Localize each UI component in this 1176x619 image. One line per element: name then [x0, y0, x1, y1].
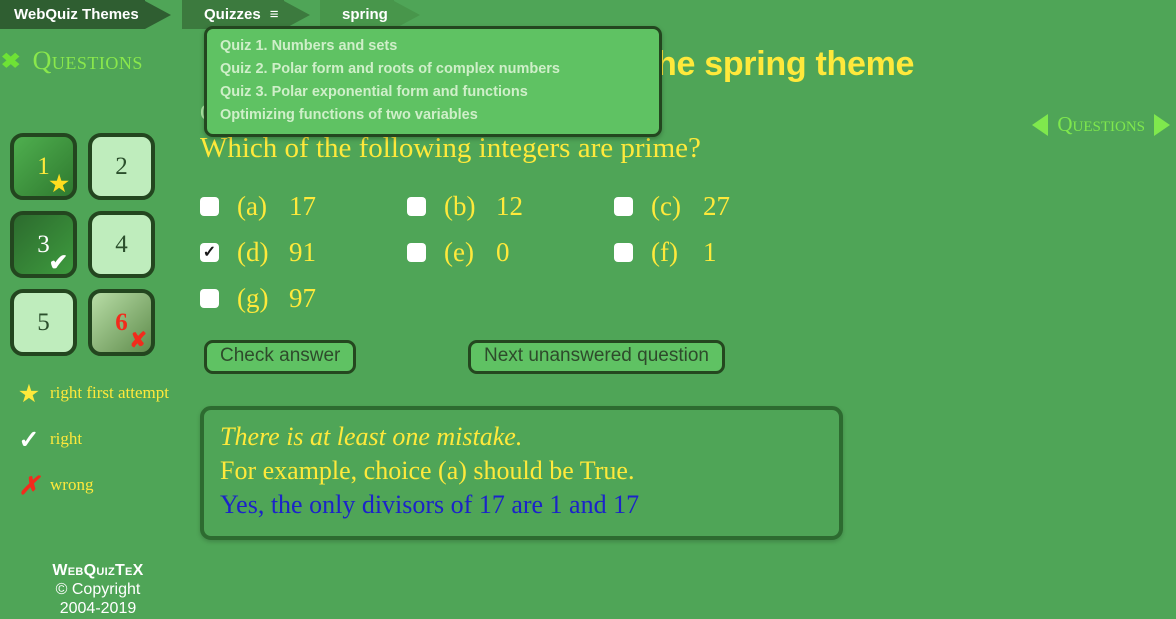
question-button-grid: 1 ★ 2 3 ✔ 4 5 6 ✘ [10, 133, 170, 356]
close-x-icon[interactable]: ✖ [1, 51, 21, 72]
question-button-2[interactable]: 2 [88, 133, 155, 200]
feedback-example: For example, choice (a) should be True. [220, 454, 823, 488]
page-title: he spring theme [656, 45, 914, 84]
checkbox-c[interactable] [614, 197, 633, 216]
menu-item-quiz-2[interactable]: Quiz 2. Polar form and roots of complex … [207, 58, 659, 81]
breadcrumb-arrow [394, 1, 420, 29]
checkbox-f[interactable] [614, 243, 633, 262]
choice-c[interactable]: (c) 27 [614, 191, 821, 222]
menu-item-quiz-3[interactable]: Quiz 3. Polar exponential form and funct… [207, 81, 659, 104]
choice-value: 27 [703, 191, 730, 222]
choice-d[interactable]: ✓ (d) 91 [200, 237, 407, 268]
question-number: 6 [115, 310, 128, 335]
question-number: 4 [115, 232, 128, 257]
questions-nav-label[interactable]: Questions [1057, 112, 1145, 137]
checkbox-a[interactable] [200, 197, 219, 216]
breadcrumb-label: spring [342, 6, 388, 23]
choice-a[interactable]: (a) 17 [200, 191, 407, 222]
choice-letter: (b) [444, 191, 496, 222]
choice-value: 12 [496, 191, 523, 222]
menu-item-quiz-1[interactable]: Quiz 1. Numbers and sets [207, 35, 659, 58]
choice-value: 0 [496, 237, 510, 268]
choice-letter: (c) [651, 191, 703, 222]
sidebar-heading: Questions [33, 46, 143, 76]
copyright-years: 2004-2019 [0, 599, 196, 618]
breadcrumb-arrow [284, 1, 310, 29]
question-number: 2 [115, 154, 128, 179]
legend-row: ✗ wrong [8, 472, 188, 500]
copyright-block: WebQuizTeX © Copyright 2004-2019 [0, 561, 196, 618]
breadcrumb-label: WebQuiz Themes [14, 6, 139, 23]
checkbox-g[interactable] [200, 289, 219, 308]
choice-letter: (d) [237, 237, 289, 268]
triangle-right-icon[interactable] [1154, 114, 1170, 136]
feedback-box: There is at least one mistake. For examp… [200, 406, 843, 540]
choice-row: (g) 97 [200, 283, 840, 314]
choice-row: ✓ (d) 91 (e) 0 (f) 1 [200, 237, 840, 268]
choice-letter: (a) [237, 191, 289, 222]
choice-letter: (g) [237, 283, 289, 314]
choice-b[interactable]: (b) 12 [407, 191, 614, 222]
checkbox-e[interactable] [407, 243, 426, 262]
breadcrumb-label: Quizzes [204, 6, 261, 23]
question-button-6[interactable]: 6 ✘ [88, 289, 155, 356]
legend-row: ★ right first attempt [8, 380, 188, 408]
quizzes-dropdown-menu[interactable]: Quiz 1. Numbers and sets Quiz 2. Polar f… [204, 26, 662, 137]
hamburger-menu-icon[interactable]: ≡ [270, 7, 279, 22]
feedback-explanation: Yes, the only divisors of 17 are 1 and 1… [220, 488, 823, 522]
choice-e[interactable]: (e) 0 [407, 237, 614, 268]
question-number: 5 [37, 310, 50, 335]
brand-name: WebQuizTeX [0, 561, 196, 580]
checkbox-b[interactable] [407, 197, 426, 216]
check-icon: ✓ [8, 426, 50, 454]
choice-g[interactable]: (g) 97 [200, 283, 407, 314]
choice-letter: (e) [444, 237, 496, 268]
legend-label: right [50, 426, 82, 450]
triangle-left-icon[interactable] [1032, 114, 1048, 136]
sidebar-header: ✖ Questions [2, 46, 143, 76]
breadcrumb-item-spring[interactable]: spring [320, 0, 420, 29]
choice-list: (a) 17 (b) 12 (c) 27 ✓ (d) 91 (e) [200, 191, 840, 314]
star-icon: ★ [8, 380, 50, 408]
question-number: 1 [37, 154, 50, 179]
question-button-5[interactable]: 5 [10, 289, 77, 356]
cross-icon: ✗ [8, 472, 50, 500]
breadcrumb-item-quizzes[interactable]: Quizzes ≡ [182, 0, 310, 29]
choice-f[interactable]: (f) 1 [614, 237, 821, 268]
check-answer-button[interactable]: Check answer [204, 340, 356, 374]
choice-row: (a) 17 (b) 12 (c) 27 [200, 191, 840, 222]
menu-item-optimizing[interactable]: Optimizing functions of two variables [207, 104, 659, 127]
main-panel: Question 6 Which of the following intege… [200, 100, 1176, 540]
question-button-1[interactable]: 1 ★ [10, 133, 77, 200]
checkbox-d[interactable]: ✓ [200, 243, 219, 262]
action-buttons: Check answer Next unanswered question [200, 340, 1176, 372]
choice-value: 91 [289, 237, 316, 268]
next-unanswered-question-button[interactable]: Next unanswered question [468, 340, 725, 374]
star-icon: ★ [49, 173, 69, 195]
breadcrumb-arrow [145, 1, 171, 29]
choice-value: 97 [289, 283, 316, 314]
feedback-summary: There is at least one mistake. [220, 420, 823, 454]
choice-value: 1 [703, 237, 717, 268]
legend: ★ right first attempt ✓ right ✗ wrong [8, 380, 188, 518]
legend-label: wrong [50, 472, 93, 496]
question-navigation: Questions [1032, 112, 1170, 137]
breadcrumb: WebQuiz Themes Quizzes ≡ spring [0, 0, 1176, 29]
question-button-4[interactable]: 4 [88, 211, 155, 278]
question-button-3[interactable]: 3 ✔ [10, 211, 77, 278]
check-icon: ✔ [49, 251, 68, 274]
choice-letter: (f) [651, 237, 703, 268]
cross-icon: ✘ [129, 330, 147, 351]
breadcrumb-item-themes[interactable]: WebQuiz Themes [0, 0, 171, 29]
legend-label: right first attempt [50, 380, 169, 404]
sidebar: ✖ Questions 1 ★ 2 3 ✔ 4 5 6 ✘ ★ right fi… [0, 40, 196, 619]
choice-value: 17 [289, 191, 316, 222]
copyright-line: © Copyright [0, 580, 196, 599]
legend-row: ✓ right [8, 426, 188, 454]
